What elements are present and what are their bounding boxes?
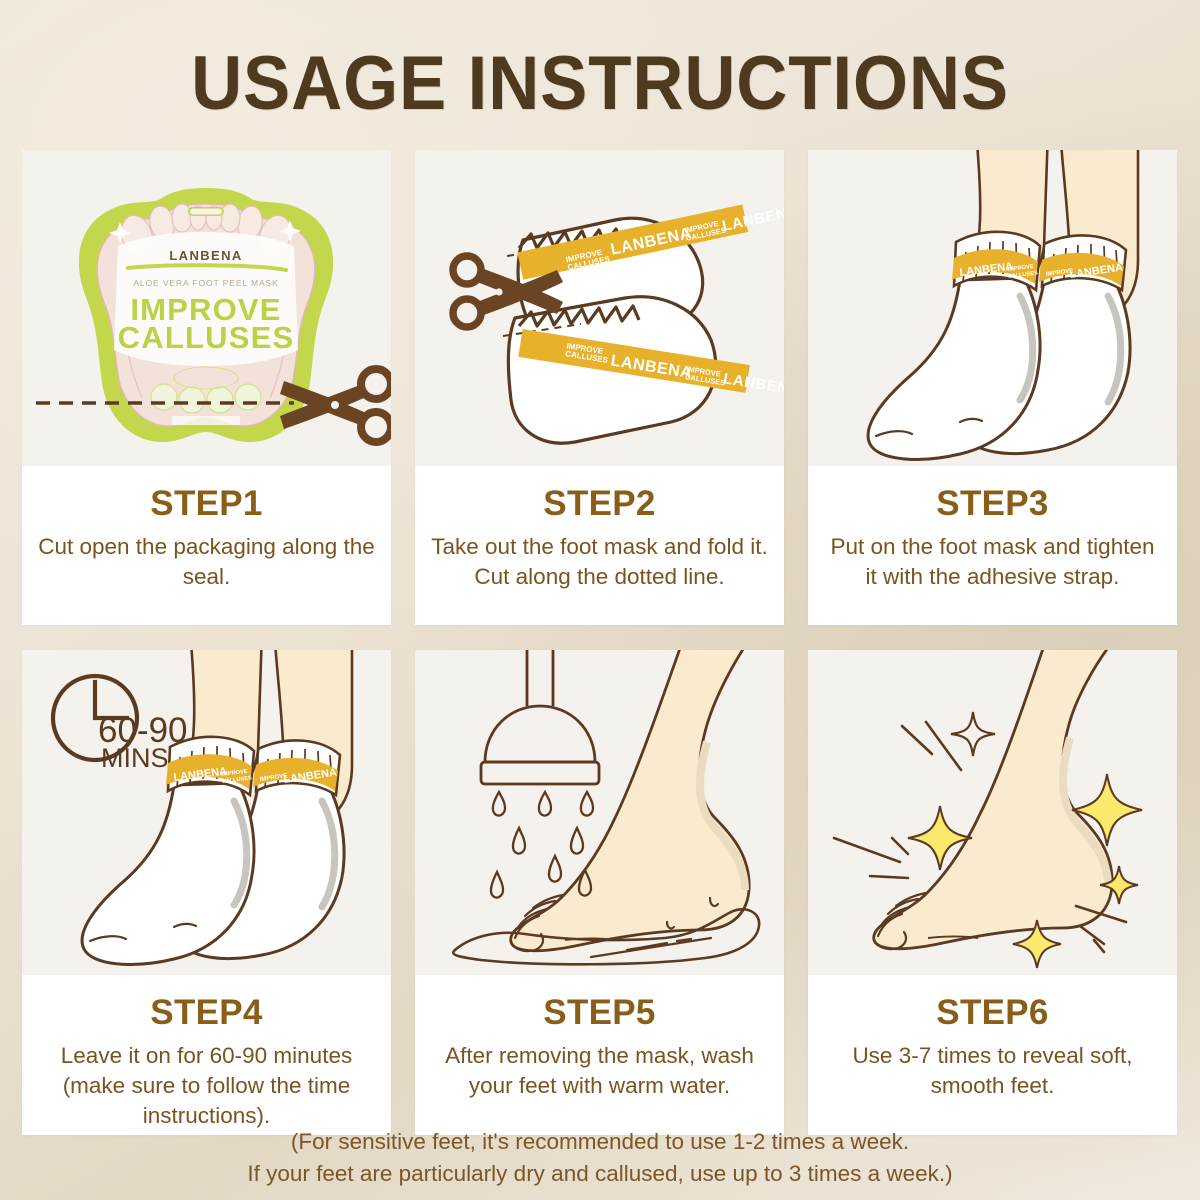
step-6-label: STEP6 — [824, 991, 1161, 1035]
folded-mask-with-scissors-icon: IMPROVE CALLUSES LANBENA IMPROVE CALLUSE… — [415, 150, 784, 466]
step-2-illustration: IMPROVE CALLUSES LANBENA IMPROVE CALLUSE… — [415, 150, 784, 466]
step-4-illustration: IMPROVE LANBENA — [22, 650, 391, 975]
step-card-4: IMPROVE LANBENA — [22, 650, 391, 1135]
step-6-text: Use 3-7 times to reveal soft, smooth fee… — [824, 1041, 1161, 1101]
step-5-text: After removing the mask, wash your feet … — [431, 1041, 768, 1101]
step-3-illustration: IMPROVE LANBENA — [808, 150, 1177, 466]
step-4-text: Leave it on for 60-90 minutes (make sure… — [38, 1041, 375, 1131]
step-1-caption: STEP1 Cut open the packaging along the s… — [22, 466, 391, 625]
step-3-text: Put on the foot mask and tighten it with… — [824, 532, 1161, 592]
package-subtitle: ALOE VERA FOOT PEEL MASK — [133, 278, 278, 288]
step-5-illustration — [415, 650, 784, 975]
shower-head-icon — [481, 650, 599, 784]
step-2-caption: STEP2 Take out the foot mask and fold it… — [415, 466, 784, 625]
step-card-2: IMPROVE CALLUSES LANBENA IMPROVE CALLUSE… — [415, 150, 784, 625]
feet-with-timer-icon: IMPROVE LANBENA — [22, 650, 391, 975]
sparkle-outline-icon — [951, 712, 995, 756]
step-card-5: STEP5 After removing the mask, wash your… — [415, 650, 784, 1135]
package-with-scissors-icon: LANBENA ALOE VERA FOOT PEEL MASK IMPROVE… — [22, 150, 391, 466]
step-6-illustration — [808, 650, 1177, 975]
step-4-caption: STEP4 Leave it on for 60-90 minutes (mak… — [22, 975, 391, 1135]
footer-line-2: If your feet are particularly dry and ca… — [0, 1158, 1200, 1190]
step-card-3: IMPROVE LANBENA — [808, 150, 1177, 625]
step-6-caption: STEP6 Use 3-7 times to reveal soft, smoo… — [808, 975, 1177, 1135]
shower-washing-foot-icon — [415, 650, 784, 975]
step-4-label: STEP4 — [38, 991, 375, 1035]
feet-wearing-masks-icon: IMPROVE LANBENA — [808, 150, 1177, 466]
step-card-1: LANBENA ALOE VERA FOOT PEEL MASK IMPROVE… — [22, 150, 391, 625]
step-5-caption: STEP5 After removing the mask, wash your… — [415, 975, 784, 1135]
step-1-illustration: LANBENA ALOE VERA FOOT PEEL MASK IMPROVE… — [22, 150, 391, 466]
step-card-6: STEP6 Use 3-7 times to reveal soft, smoo… — [808, 650, 1177, 1135]
step-3-caption: STEP3 Put on the foot mask and tighten i… — [808, 466, 1177, 625]
page-title: USAGE INSTRUCTIONS — [42, 42, 1158, 126]
step-2-text: Take out the foot mask and fold it. Cut … — [431, 532, 768, 592]
step-1-text: Cut open the packaging along the seal. — [38, 532, 375, 592]
steps-grid: LANBENA ALOE VERA FOOT PEEL MASK IMPROVE… — [22, 150, 1178, 1135]
timer-unit: MINS — [101, 743, 169, 773]
usage-instructions-page: USAGE INSTRUCTIONS — [0, 0, 1200, 1200]
footer-note: (For sensitive feet, it's recommended to… — [0, 1126, 1200, 1190]
step-5-label: STEP5 — [431, 991, 768, 1035]
sparkling-clean-foot-icon — [808, 650, 1177, 975]
step-3-label: STEP3 — [824, 482, 1161, 526]
step-2-label: STEP2 — [431, 482, 768, 526]
package-brand: LANBENA — [169, 248, 242, 263]
package-headline-2: CALLUSES — [118, 320, 295, 355]
strap-brand-4: LANBENA — [722, 370, 784, 399]
step-1-label: STEP1 — [38, 482, 375, 526]
footer-line-1: (For sensitive feet, it's recommended to… — [0, 1126, 1200, 1158]
